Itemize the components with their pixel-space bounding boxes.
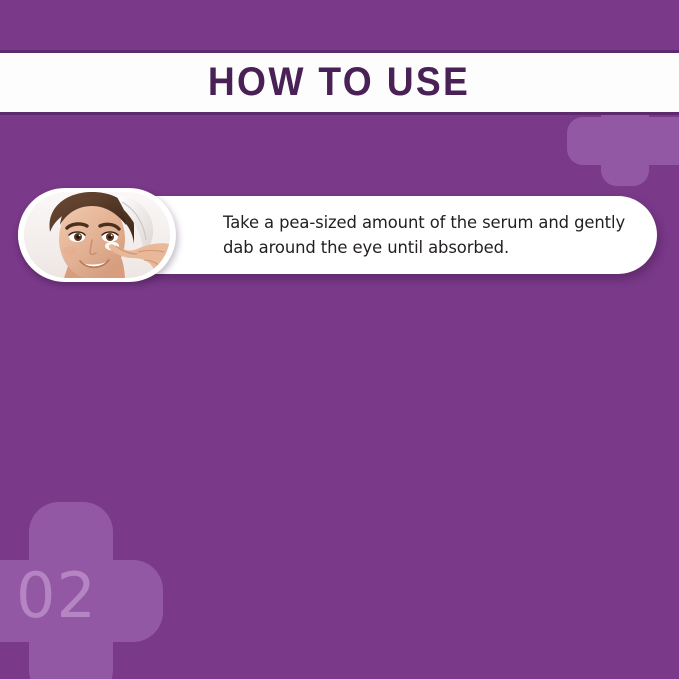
- instruction-text: Take a pea-sized amount of the serum and…: [223, 210, 643, 260]
- step-number-label: 02: [16, 556, 136, 636]
- step-photo-image: [24, 192, 170, 278]
- how-to-use-poster: 02 HOW TO USE: [0, 0, 679, 679]
- page-title: HOW TO USE: [208, 60, 470, 105]
- plus-shape-decoration-top-right: [560, 100, 679, 210]
- plus-shape-horizontal-bar: [567, 117, 679, 165]
- title-band: HOW TO USE: [0, 50, 679, 115]
- woman-applying-cream-illustration: [24, 192, 170, 278]
- instruction-card: Take a pea-sized amount of the serum and…: [18, 196, 657, 274]
- step-photo: [18, 188, 176, 282]
